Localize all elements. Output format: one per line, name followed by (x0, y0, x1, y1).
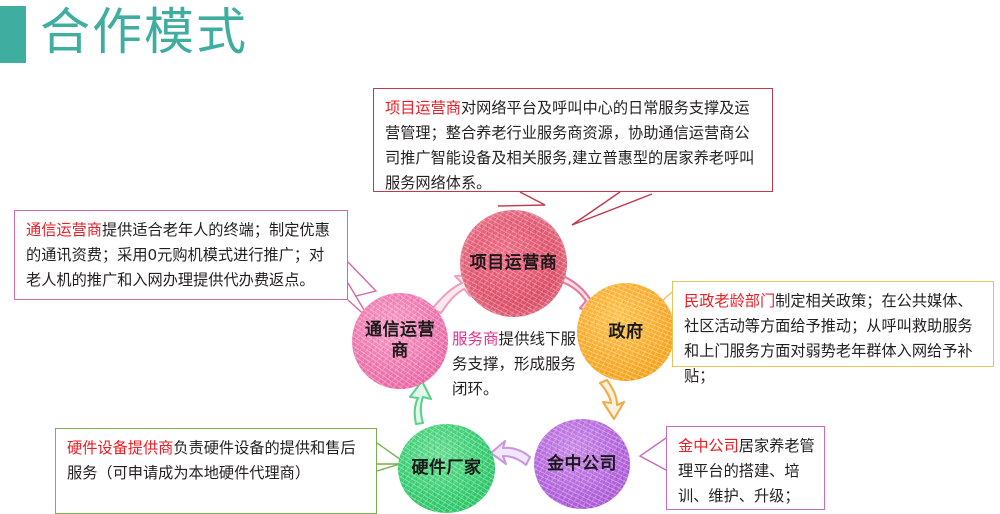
callout-telecom-operator: 通信运营商提供适合老年人的终端；制定优惠的通讯资费；采用0元购机模式进行推广；对… (14, 210, 348, 300)
page-title: 合作模式 (40, 0, 248, 66)
node-jinzhong-company[interactable]: 金中公司 (534, 419, 630, 509)
callout-keyword: 硬件设备提供商 (67, 439, 173, 457)
callout-keyword: 通信运营商 (26, 221, 102, 239)
arrow-hardware-to-telecom (410, 381, 431, 424)
callout-tail-jinzhong (640, 438, 666, 470)
title-accent-bar (0, 6, 26, 63)
callout-keyword: 项目运营商 (385, 99, 461, 117)
node-label: 硬件厂家 (406, 458, 488, 479)
callout-jinzhong-company: 金中公司居家养老管理平台的搭建、培训、维护、升级； (666, 426, 825, 510)
node-label: 项目运营商 (464, 253, 564, 274)
callout-hardware-supplier: 硬件设备提供商负责硬件设备的提供和售后服务（可申请成为本地硬件代理商） (55, 428, 377, 514)
node-label: 政府 (603, 322, 650, 343)
node-government[interactable]: 政府 (577, 283, 675, 381)
callout-keyword: 金中公司 (678, 437, 739, 455)
node-label: 金中公司 (541, 454, 623, 475)
callout-project-operator: 项目运营商对网络平台及呼叫中心的日常服务支撑及运营管理；整合养老行业服务商资源，… (373, 88, 773, 192)
node-label: 通信运营商 (352, 320, 448, 362)
arrow-jinzhong-to-hardware (491, 441, 530, 465)
center-note-keyword: 服务商 (452, 330, 499, 348)
node-telecom-operator[interactable]: 通信运营商 (352, 293, 448, 389)
arrow-government-to-jinzhong (600, 380, 624, 419)
node-hardware-manufacturer[interactable]: 硬件厂家 (398, 424, 495, 513)
slide-canvas: 合作模式 (0, 0, 1000, 513)
callout-keyword: 民政老龄部门 (684, 292, 775, 310)
node-project-operator[interactable]: 项目运营商 (460, 210, 567, 317)
center-note: 服务商提供线下服务支撑，形成服务闭环。 (452, 327, 584, 402)
callout-government: 民政老龄部门制定相关政策；在公共媒体、社区活动等方面给予推动；从呼叫救助服务和上… (672, 281, 994, 367)
